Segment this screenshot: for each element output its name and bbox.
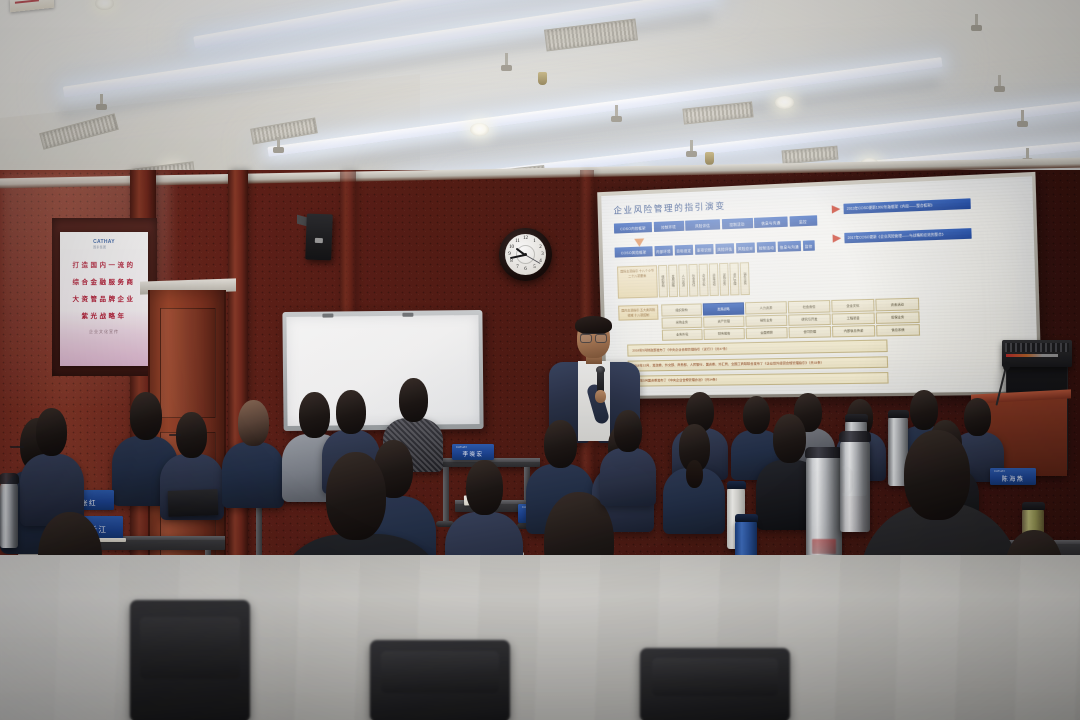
attendee-head	[773, 414, 806, 463]
attendee	[600, 410, 656, 502]
slide-matrix-cell: 工程项目	[832, 312, 875, 325]
chair[interactable]	[130, 600, 250, 720]
bottle-cap	[1022, 502, 1045, 510]
clock-numeral: 7	[514, 265, 521, 270]
clock-numeral: 3	[539, 252, 546, 257]
attendee-head	[399, 378, 428, 422]
slide-matrix-cell: 组织架构	[661, 304, 702, 316]
slide-grid-cell: 资金活动	[709, 264, 719, 297]
slide-matrix-cell: 财务报告	[703, 328, 745, 340]
slide-chip: 事项识别	[695, 244, 714, 255]
slide-matrix-cell: 销售业务	[745, 314, 787, 326]
callout-arrow-icon	[832, 205, 841, 214]
slide-tag: 国际主流指引 十八个小节 二十八项要素	[617, 266, 658, 299]
bottle-cap	[888, 410, 909, 418]
attendee	[20, 408, 84, 520]
attendee-torso	[600, 448, 656, 506]
eyeglasses-icon	[580, 333, 607, 340]
slide-chip: 风险评估	[685, 219, 720, 231]
document-header-bar	[15, 0, 39, 4]
slide-footnote: 2022年5月国资委发布了《中央企业合规管理办法》（共34条）	[628, 372, 889, 387]
clock-numeral: 6	[522, 267, 529, 272]
placard-name: 李晓宏	[462, 450, 483, 458]
thermos-flask	[806, 456, 842, 566]
sprinkler-head	[705, 152, 714, 165]
slide-grid-cell: 组织架构	[658, 265, 668, 298]
presenter-hand	[595, 390, 606, 403]
slide-matrix-cell-highlighted: 发展战略	[703, 303, 744, 315]
clock-numeral: 11	[514, 239, 521, 244]
slide-matrix-section: 国内主流指引 五大类风险领域 十八项控制 组织架构 发展战略 人力资源 社会责任…	[618, 295, 1025, 341]
clock-numeral: 12	[522, 236, 529, 241]
thermos-label	[812, 539, 835, 554]
whiteboard-clip	[402, 313, 413, 317]
slide-chip: 控制活动	[721, 218, 752, 230]
slide-chip: 目标设定	[674, 245, 693, 256]
chair[interactable]	[370, 640, 510, 720]
slide-matrix-cell: 担保业务	[876, 311, 920, 324]
ceiling-downlight	[775, 96, 794, 109]
slide-grid-cell: 发展战略	[668, 265, 678, 298]
slide-chip: 控制活动	[757, 242, 777, 253]
attendee-head	[238, 400, 269, 446]
ceiling-hanger	[100, 94, 103, 105]
eyeglasses-icon	[169, 434, 181, 436]
projection-screen: 企业风险管理的指引演变 COSO内控框架 控制环境 风险评估 控制活动 信息与沟…	[601, 176, 1038, 396]
ponytail	[686, 460, 703, 488]
ceiling-hanger	[975, 14, 978, 26]
thermos-cap	[0, 473, 19, 484]
desk-name-placard: CATHAY 李晓宏	[452, 444, 494, 460]
thermos-cap	[805, 447, 843, 458]
clock-numeral: 8	[508, 259, 515, 264]
slide-chip: COSO风险框架	[615, 246, 653, 258]
attendee-head	[544, 420, 577, 468]
presentation-slide: 企业风险管理的指引演变 COSO内控框架 控制环境 风险评估 控制活动 信息与沟…	[601, 176, 1038, 396]
slide-grid-cell: 采购业务	[719, 263, 729, 296]
ceiling-downlight	[470, 123, 489, 136]
slide-chip: 信息与沟通	[778, 241, 802, 252]
attendee-torso	[222, 442, 284, 508]
slide-matrix-cell: 人力资源	[745, 302, 787, 315]
slide-matrix-cell: 企业文化	[831, 299, 874, 312]
attendee-head	[904, 430, 970, 520]
clock-center-pin	[524, 253, 527, 256]
slide-transition-arrow-icon	[634, 238, 644, 246]
slide-matrix-cell: 资产管理	[703, 315, 744, 327]
sprinkler-head	[538, 72, 547, 85]
slide-chip: 风险评估	[715, 243, 734, 254]
attendee-head	[614, 410, 642, 452]
bottle-cap	[727, 481, 746, 489]
ceiling-hanger	[690, 140, 693, 152]
slide-footnote: 2018年12月，发改委、外交部、商务部、人民银行、国资委、外汇局、全国工商联联…	[628, 356, 889, 372]
slide-matrix-cell: 全面预算	[746, 327, 788, 339]
attendee	[222, 400, 284, 504]
slide-top-grid: 国际主流指引 十八个小节 二十八项要素 组织架构 发展战略 人力资源 社会责任 …	[617, 253, 1024, 299]
conference-room-photograph: CATHAY 国泰集团 打造国内一流的 综合金融服务商 大资管品牌企业 紫光战略…	[0, 0, 1080, 720]
ceiling-hanger	[998, 75, 1001, 87]
slide-chip: 监控	[789, 215, 817, 227]
slide-matrix-cell: 研究与开发	[788, 313, 831, 326]
slide-chip: 控制环境	[653, 221, 684, 233]
audio-mixer[interactable]	[1002, 340, 1072, 367]
bottle-cap	[735, 514, 758, 522]
clock-numeral: 10	[508, 245, 515, 250]
slide-matrix-cell: 社会责任	[788, 300, 831, 313]
whiteboard-clip	[322, 314, 333, 318]
attendee-head	[130, 392, 162, 440]
ceiling-hanger	[1021, 110, 1024, 122]
slide-footnote: 2018年5月财政部发布了《中央企业合规管理指引（试行）》（共37条）	[627, 340, 888, 357]
slide-matrix-cell: 资金活动	[875, 298, 919, 311]
slide-chip: 风险应对	[736, 243, 756, 254]
laptop	[168, 489, 219, 517]
callout-arrow-icon	[833, 234, 842, 243]
culture-banner-poster: CATHAY 国泰集团 打造国内一流的 综合金融服务商 大资管品牌企业 紫光战略…	[60, 232, 148, 366]
presenter-hair	[575, 316, 612, 334]
mixer-fader-bank[interactable]	[1005, 343, 1069, 352]
slide-matrix: 组织架构 发展战略 人力资源 社会责任 企业文化 资金活动 采购业务 资产管理 …	[661, 298, 920, 341]
slide-chip: 内部环境	[654, 246, 673, 257]
clock-face: 12 1 2 3 4 5 6 7 8 9 10 11	[505, 234, 546, 275]
mixer-level-meter	[1006, 354, 1058, 357]
slide-chip: 信息与沟通	[754, 216, 788, 228]
slide-grid-cell: 资产管理	[730, 263, 740, 296]
ceiling-hanger	[505, 53, 508, 66]
attendee	[663, 424, 725, 530]
chair[interactable]	[640, 648, 790, 720]
bottle-cap	[845, 414, 868, 422]
slide-matrix-cell: 合同管理	[788, 326, 831, 338]
ceiling-hanger	[1026, 148, 1029, 159]
slide-chip: 监控	[802, 240, 814, 251]
screen-surface: 企业风险管理的指引演变 COSO内控框架 控制环境 风险评估 控制活动 信息与沟…	[601, 176, 1038, 396]
slide-matrix-cell: 业务外包	[662, 329, 703, 341]
slide-chip: COSO内控框架	[614, 222, 652, 234]
attendee-head	[336, 390, 366, 434]
clock-numeral: 2	[537, 245, 544, 250]
slide-matrix-cell: 采购业务	[661, 316, 702, 328]
slide-matrix-cell: 内部信息传递	[832, 325, 875, 338]
wall-clock: 12 1 2 3 4 5 6 7 8 9 10 11	[499, 228, 552, 281]
ceiling-hanger	[277, 137, 280, 148]
clock-numeral: 1	[531, 239, 538, 244]
slide-grid-cell: 人力资源	[678, 265, 688, 298]
wall-speaker	[305, 214, 333, 261]
wall-pilaster	[228, 170, 248, 590]
ceiling-hanger	[615, 105, 618, 117]
slide-grid-cell: 社会责任	[689, 264, 699, 297]
slide-grid-cell: 企业文化	[699, 264, 709, 297]
poster-glare	[60, 232, 148, 366]
slide-grid-cell: 销售业务	[740, 263, 750, 296]
slide-matrix-cell: 信息系统	[876, 324, 920, 337]
clock-numeral: 5	[531, 265, 538, 270]
attendee-head	[326, 452, 386, 540]
attendee-head	[36, 408, 67, 456]
